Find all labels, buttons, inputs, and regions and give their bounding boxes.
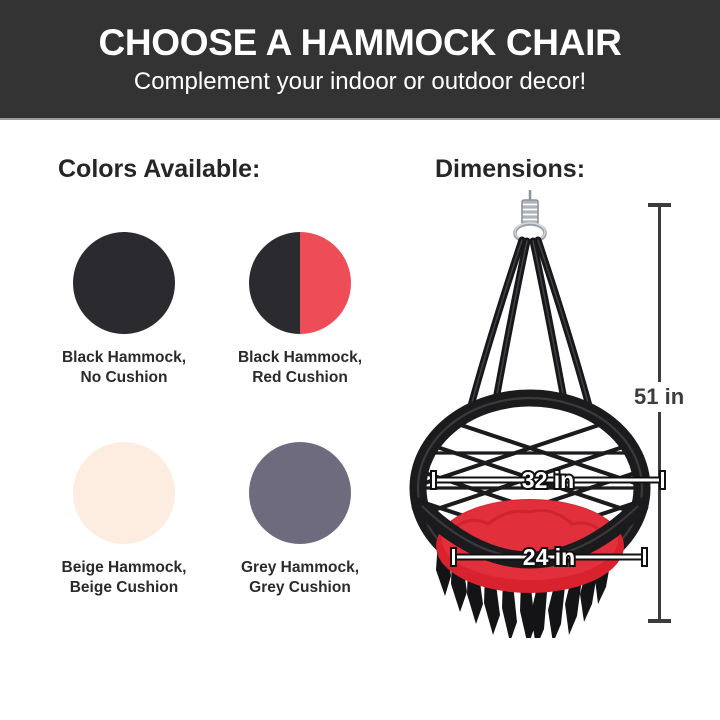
swatch-item-grey[interactable]: Grey Hammock, Grey Cushion xyxy=(212,442,388,652)
dimension-cap-bottom xyxy=(648,619,671,623)
swatch-half-hammock xyxy=(249,442,300,544)
hammock-chair-illustration xyxy=(400,188,660,638)
header-banner: CHOOSE A HAMMOCK CHAIR Complement your i… xyxy=(0,0,720,118)
backrest-width-label: 32 in xyxy=(515,467,581,494)
header-divider xyxy=(0,118,720,120)
dimension-cap-left xyxy=(430,470,437,490)
dimension-rule xyxy=(658,203,661,623)
page-title: CHOOSE A HAMMOCK CHAIR xyxy=(98,24,621,63)
hammock-chair-svg xyxy=(400,188,660,638)
height-dimension-line xyxy=(648,203,670,623)
spring-hanger-icon xyxy=(522,190,538,224)
color-swatch-grid: Black Hammock, No Cushion Black Hammock,… xyxy=(36,232,388,652)
swatch-half-cushion xyxy=(124,232,175,334)
swatch-label: Beige Hammock, Beige Cushion xyxy=(62,558,187,599)
swatch-item-beige[interactable]: Beige Hammock, Beige Cushion xyxy=(36,442,212,652)
height-dimension-label: 51 in xyxy=(630,382,688,412)
swatch-label: Grey Hammock, Grey Cushion xyxy=(241,558,359,599)
swatch-label: Black Hammock, No Cushion xyxy=(62,348,186,389)
backrest-width-dimension: 32 in xyxy=(432,468,664,492)
swatch-half-cushion xyxy=(300,232,351,334)
dimensions-heading: Dimensions: xyxy=(435,155,585,184)
swatch-item-black-no-cushion[interactable]: Black Hammock, No Cushion xyxy=(36,232,212,442)
swatch-item-black-red-cushion[interactable]: Black Hammock, Red Cushion xyxy=(212,232,388,442)
seat-width-label: 24 in xyxy=(516,544,582,571)
swatch-half-cushion xyxy=(300,442,351,544)
swatch-label: Black Hammock, Red Cushion xyxy=(238,348,362,389)
dimension-cap-right xyxy=(641,547,648,567)
page-subtitle: Complement your indoor or outdoor decor! xyxy=(134,69,586,94)
swatch-half-hammock xyxy=(249,232,300,334)
swatch-half-hammock xyxy=(73,232,124,334)
swatch-half-hammock xyxy=(73,442,124,544)
swatch-circle xyxy=(249,442,351,544)
seat-width-dimension: 24 in xyxy=(452,545,646,569)
dimension-cap-right xyxy=(659,470,666,490)
infographic-page: CHOOSE A HAMMOCK CHAIR Complement your i… xyxy=(0,0,720,720)
swatch-half-cushion xyxy=(124,442,175,544)
dimension-cap-left xyxy=(450,547,457,567)
swatch-circle xyxy=(249,232,351,334)
swatch-circle xyxy=(73,442,175,544)
colors-available-heading: Colors Available: xyxy=(58,155,260,184)
swatch-circle xyxy=(73,232,175,334)
